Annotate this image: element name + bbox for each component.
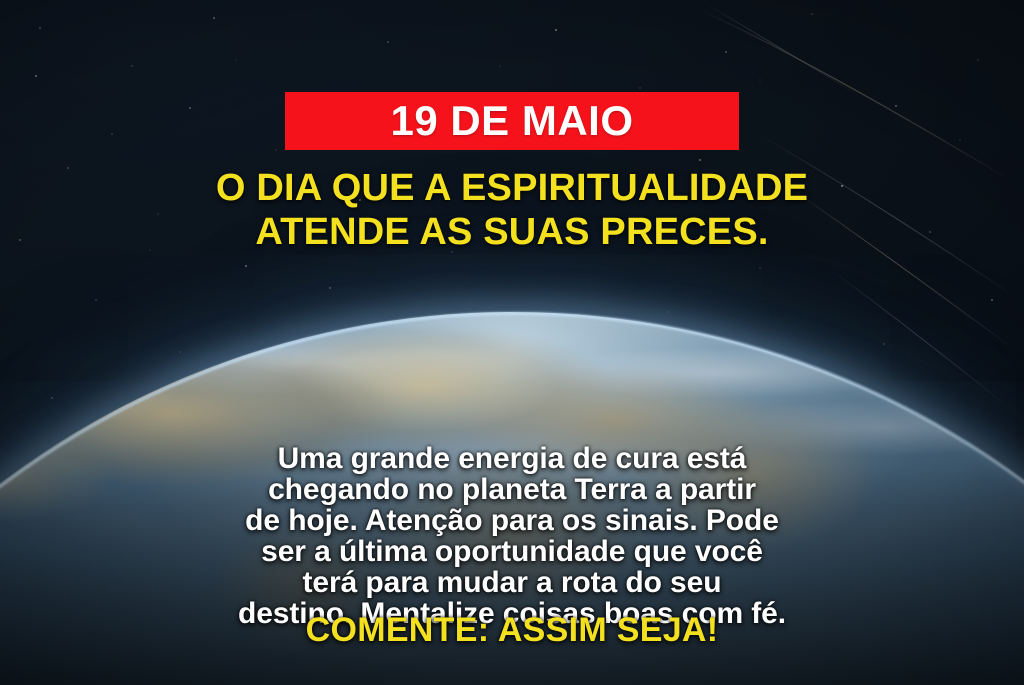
poster-content: 19 DE MAIO O DIA QUE A ESPIRITUALIDADE A… <box>0 0 1024 685</box>
headline: O DIA QUE A ESPIRITUALIDADE ATENDE AS SU… <box>42 166 982 255</box>
date-banner: 19 DE MAIO <box>285 92 739 150</box>
body-line-2: chegando no planeta Terra a partir <box>62 474 962 505</box>
body-paragraph: Uma grande energia de cura está chegando… <box>62 443 962 629</box>
poster-canvas: 19 DE MAIO O DIA QUE A ESPIRITUALIDADE A… <box>0 0 1024 685</box>
date-banner-label: 19 DE MAIO <box>390 100 633 142</box>
call-to-action-text: COMENTE: ASSIM SEJA! <box>62 612 962 649</box>
body-line-1: Uma grande energia de cura está <box>62 443 962 474</box>
body-line-4: ser a última oportunidade que você <box>62 536 962 567</box>
body-line-3: de hoje. Atenção para os sinais. Pode <box>62 505 962 536</box>
headline-line-2: ATENDE AS SUAS PRECES. <box>42 210 982 254</box>
body-line-5: terá para mudar a rota do seu <box>62 567 962 598</box>
headline-line-1: O DIA QUE A ESPIRITUALIDADE <box>42 166 982 210</box>
